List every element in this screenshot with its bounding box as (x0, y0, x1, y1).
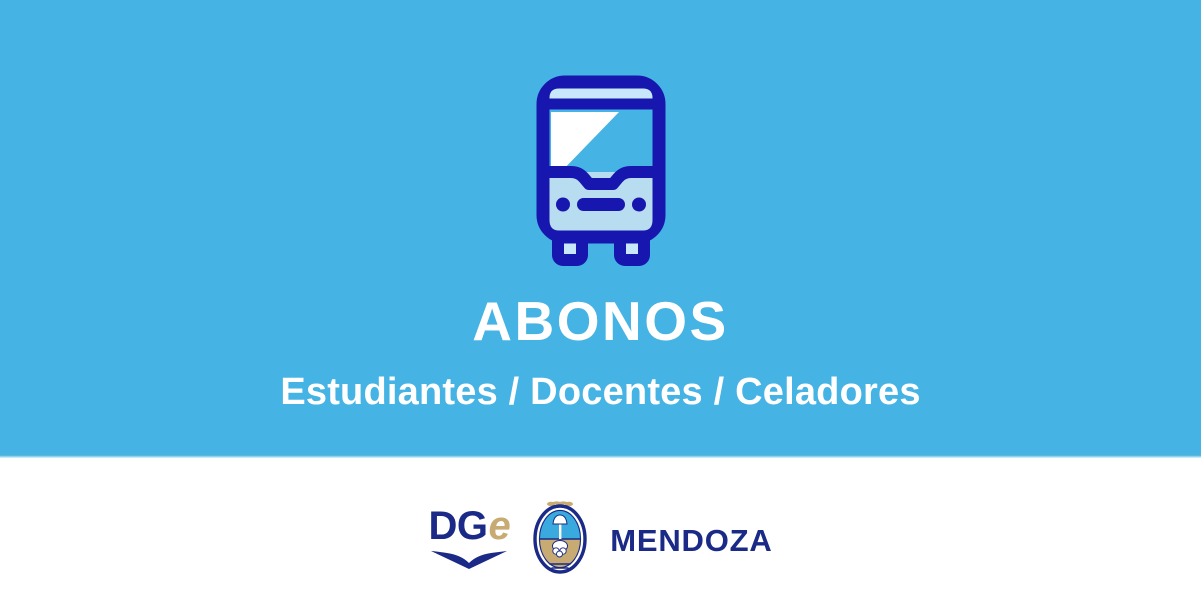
abonos-banner: ABONOS Estudiantes / Docentes / Celadore… (0, 0, 1201, 601)
page-title: ABONOS (0, 294, 1201, 349)
dge-logo: DGe (428, 506, 510, 575)
dge-accent-text: e (488, 506, 510, 546)
dge-wordmark: DGe (428, 506, 510, 546)
page-subtitle: Estudiantes / Docentes / Celadores (0, 372, 1201, 414)
bus-icon (501, 72, 701, 272)
footer-logo-lockup: DGe (428, 498, 772, 583)
bus-icon-container (0, 72, 1201, 272)
open-book-icon (429, 549, 509, 575)
mendoza-coat-of-arms-icon (532, 498, 588, 583)
footer-section: DGe (0, 458, 1201, 601)
province-label: MENDOZA (610, 525, 772, 556)
dge-primary-text: DG (428, 506, 487, 546)
